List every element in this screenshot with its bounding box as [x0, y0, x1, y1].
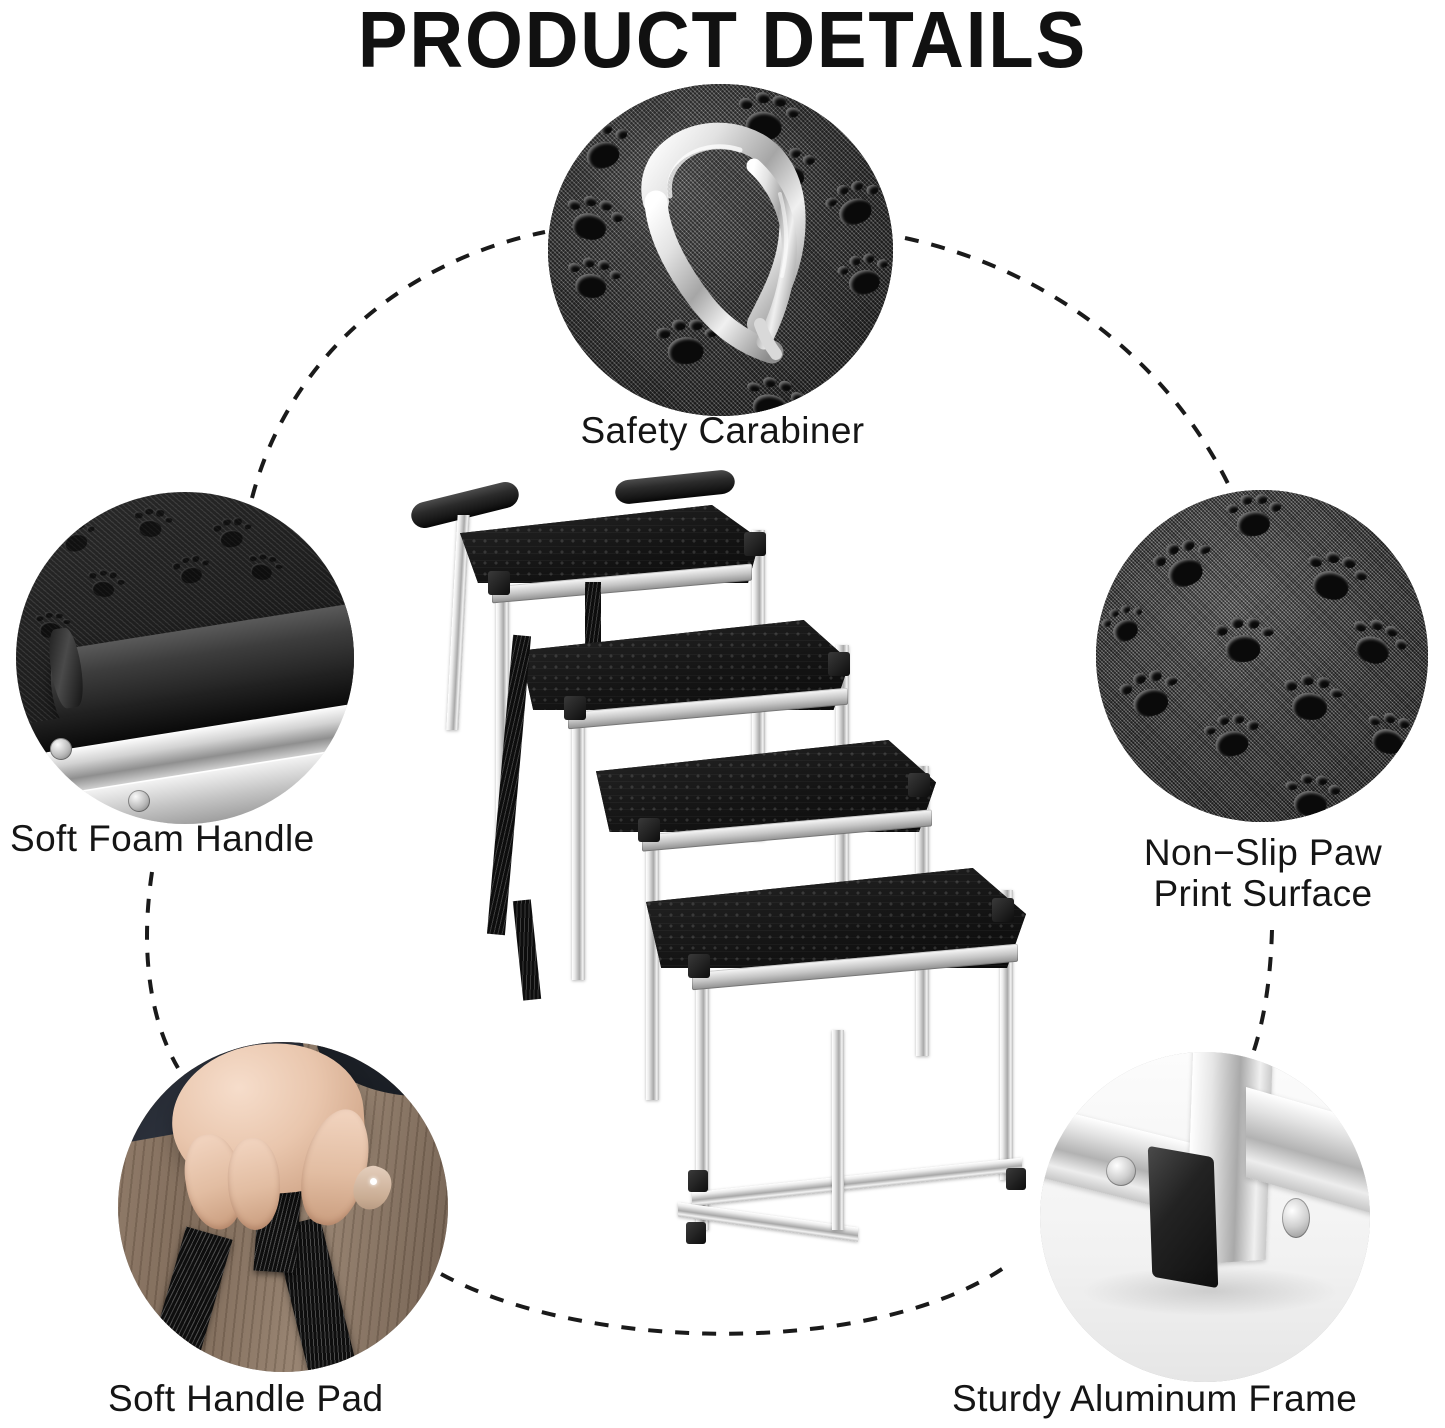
paw-print [210, 514, 253, 552]
callout-label-safety-carabiner: Safety Carabiner [0, 410, 1445, 451]
corner-cap [908, 773, 930, 797]
carabiner-icon [548, 84, 893, 416]
rivet-icon [1282, 1198, 1310, 1238]
product-illustration [400, 470, 1060, 1280]
paw-print [84, 565, 127, 603]
callout-label-non-slip-paw-print-surface: Non−Slip Paw Print Surface [1092, 832, 1434, 915]
callout-circle-non-slip-paw-print-surface[interactable] [1096, 490, 1428, 822]
paw-print [170, 551, 213, 589]
frame-leg [832, 1030, 844, 1230]
callout-circle-soft-handle-pad[interactable] [118, 1042, 448, 1372]
paw-print [1200, 708, 1263, 765]
corner-cap [688, 954, 710, 978]
callout-label-soft-foam-handle: Soft Foam Handle [10, 818, 410, 859]
callout-label-sturdy-aluminum-frame: Sturdy Aluminum Frame [952, 1378, 1432, 1419]
screw-icon [1106, 1156, 1136, 1186]
paw-print [1279, 669, 1344, 727]
corner-cap [638, 818, 660, 842]
page-title: PRODUCT DETAILS [51, 0, 1395, 82]
paw-print [1224, 490, 1285, 543]
callout-label-soft-handle-pad: Soft Handle Pad [108, 1378, 528, 1419]
paw-print [1213, 613, 1275, 667]
paw-print [1283, 771, 1341, 821]
paw-print [130, 504, 173, 542]
shadow [1080, 1266, 1340, 1316]
corner-cap [828, 652, 850, 676]
screw-icon [128, 790, 150, 812]
screw-icon [50, 738, 72, 760]
callout-circle-soft-foam-handle[interactable] [16, 492, 354, 824]
callout-circle-sturdy-aluminum-frame[interactable] [1040, 1052, 1370, 1382]
side-strap [487, 635, 531, 935]
corner-cap [686, 1222, 706, 1244]
corner-cap [992, 898, 1014, 922]
foam-handle-right [614, 469, 736, 505]
base-rail [692, 1158, 1022, 1207]
side-strap [513, 899, 541, 1000]
corner-cap [564, 696, 586, 720]
corner-cap [744, 532, 766, 556]
corner-cap [1006, 1168, 1026, 1190]
nail-gem-icon [370, 1178, 377, 1185]
callout-circle-safety-carabiner[interactable] [548, 84, 893, 416]
corner-cap [688, 1170, 708, 1192]
corner-cap [488, 571, 510, 595]
